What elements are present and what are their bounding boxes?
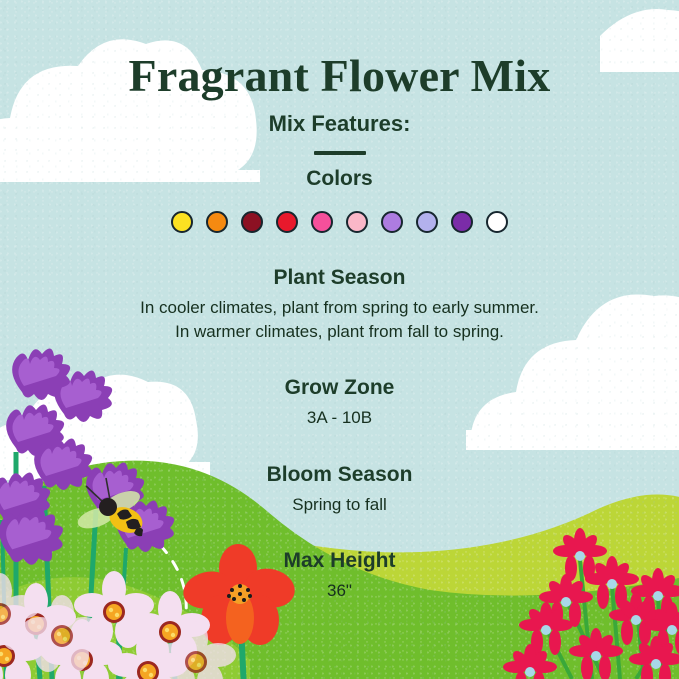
plant-season-line-1: In cooler climates, plant from spring to… bbox=[0, 297, 679, 320]
color-swatch-lavender bbox=[416, 211, 438, 233]
seed-packet-poster: Fragrant Flower Mix Mix Features: Colors… bbox=[0, 0, 679, 679]
plant-season-heading: Plant Season bbox=[0, 266, 679, 290]
color-swatch-orange bbox=[206, 211, 228, 233]
color-swatch-dark-red bbox=[241, 211, 263, 233]
color-swatch-yellow bbox=[171, 211, 193, 233]
color-swatch-orchid bbox=[381, 211, 403, 233]
cosmos-bloom bbox=[629, 636, 679, 679]
max-height-value: 36" bbox=[0, 580, 679, 603]
page-title: Fragrant Flower Mix bbox=[0, 0, 679, 100]
plant-season-line-2: In warmer climates, plant from fall to s… bbox=[0, 321, 679, 344]
max-height-heading: Max Height bbox=[0, 549, 679, 573]
colors-heading: Colors bbox=[0, 167, 679, 191]
color-swatch-purple bbox=[451, 211, 473, 233]
bloom-season-heading: Bloom Season bbox=[0, 463, 679, 487]
grow-zone-value: 3A - 10B bbox=[0, 407, 679, 430]
bloom-season-value: Spring to fall bbox=[0, 494, 679, 517]
cosmos-bloom bbox=[503, 644, 557, 679]
color-swatch-hot-pink bbox=[311, 211, 333, 233]
color-swatch-white bbox=[486, 211, 508, 233]
poster-content: Fragrant Flower Mix Mix Features: Colors… bbox=[0, 0, 679, 603]
color-swatch-light-pink bbox=[346, 211, 368, 233]
color-swatch-red bbox=[276, 211, 298, 233]
title-divider bbox=[314, 151, 366, 155]
grow-zone-heading: Grow Zone bbox=[0, 376, 679, 400]
mix-features-subtitle: Mix Features: bbox=[0, 111, 679, 137]
color-swatch-row bbox=[0, 211, 679, 233]
